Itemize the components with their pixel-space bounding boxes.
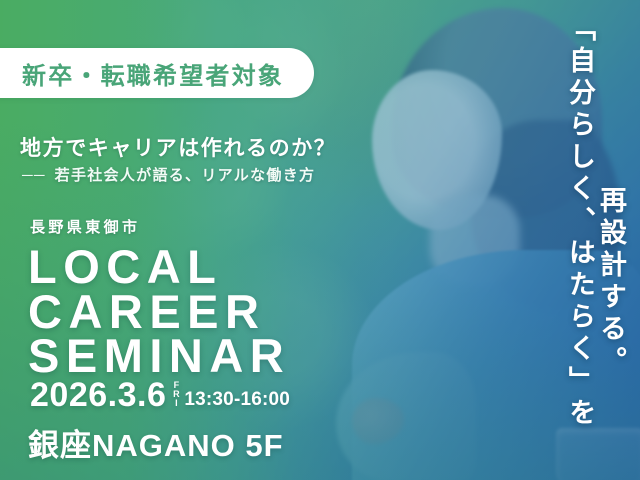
seminar-poster: 新卒・転職希望者対象 地方でキャリアは作れるのか？ ── 若手社会人が語る、リア… bbox=[0, 0, 640, 480]
catchphrase-column-left: 再設計する。 bbox=[597, 186, 624, 378]
event-time: 13:30-16:00 bbox=[184, 390, 290, 409]
page-title: LOCAL CAREER SEMINAR bbox=[28, 245, 290, 379]
lead-subline: ── 若手社会人が語る、リアルな働き方 bbox=[22, 164, 315, 185]
target-audience-label: 新卒・転職希望者対象 bbox=[22, 56, 284, 91]
title-line-3: SEMINAR bbox=[28, 334, 290, 379]
vertical-catchphrase: 「自分らしく、はたらく」を 再設計する。 bbox=[566, 14, 624, 466]
event-day-of-week: FRI bbox=[171, 380, 180, 408]
catchphrase-column-right: 「自分らしく、はたらく」を bbox=[566, 14, 593, 430]
event-schedule: 2026.3.6 FRI 13:30-16:00 bbox=[30, 378, 290, 412]
title-line-2: CAREER bbox=[28, 290, 290, 335]
title-line-1: LOCAL bbox=[28, 245, 290, 290]
region-label: 長野県東御市 bbox=[30, 216, 140, 237]
lead-headline: 地方でキャリアは作れるのか？ bbox=[20, 132, 336, 162]
target-audience-badge: 新卒・転職希望者対象 bbox=[0, 48, 314, 98]
event-date: 2026.3.6 bbox=[30, 378, 166, 412]
event-venue: 銀座NAGANO 5F bbox=[28, 420, 284, 465]
